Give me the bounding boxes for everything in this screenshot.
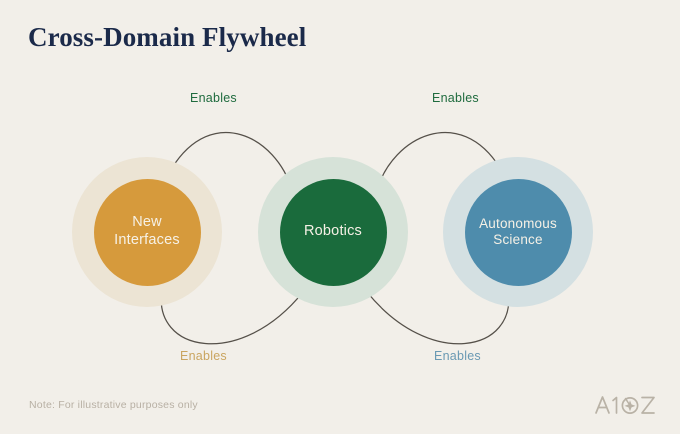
compass-star-icon bbox=[625, 400, 636, 411]
edge-label-robotics-to-autonomous-science: Enables bbox=[432, 91, 479, 105]
node-label-new-interfaces: New Interfaces bbox=[108, 214, 186, 249]
node-new-interfaces[interactable]: New Interfaces bbox=[72, 157, 222, 307]
node-autonomous-science[interactable]: Autonomous Science bbox=[443, 157, 593, 307]
node-core-robotics: Robotics bbox=[280, 179, 387, 286]
edge-label-new-interfaces-to-robotics: Enables bbox=[180, 349, 227, 363]
edge-label-robotics-to-new-interfaces: Enables bbox=[190, 91, 237, 105]
edge-label-autonomous-science-to-robotics: Enables bbox=[434, 349, 481, 363]
node-core-new-interfaces: New Interfaces bbox=[94, 179, 201, 286]
node-label-robotics: Robotics bbox=[298, 223, 368, 241]
a16z-logo bbox=[594, 392, 656, 418]
node-robotics[interactable]: Robotics bbox=[258, 157, 408, 307]
flywheel-diagram: Cross-Domain Flywheel New Interfaces Rob… bbox=[0, 0, 680, 434]
node-core-autonomous-science: Autonomous Science bbox=[465, 179, 572, 286]
footnote: Note: For illustrative purposes only bbox=[29, 399, 198, 411]
node-label-autonomous-science: Autonomous Science bbox=[473, 216, 563, 249]
